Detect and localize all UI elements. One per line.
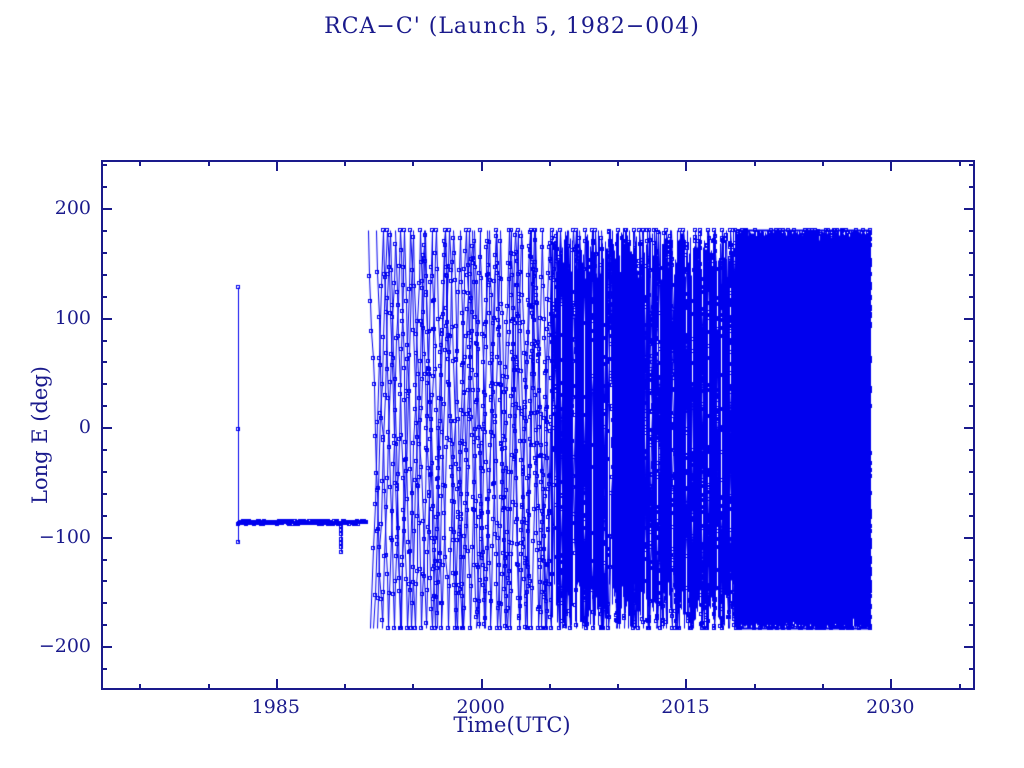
y-axis-tick <box>969 164 975 166</box>
y-axis-tick <box>101 668 107 670</box>
y-axis-tick <box>969 449 975 451</box>
y-axis-tick <box>101 427 112 429</box>
y-axis-tick <box>101 580 107 582</box>
y-axis-tick <box>969 296 975 298</box>
x-axis-tick <box>822 684 824 690</box>
x-axis-tick <box>754 160 756 166</box>
y-axis-tick <box>969 471 975 473</box>
x-axis-tick <box>617 160 619 166</box>
y-axis-tick <box>969 493 975 495</box>
y-tick-label: 100 <box>7 307 91 329</box>
y-axis-tick <box>101 361 107 363</box>
y-axis-tick <box>101 515 107 517</box>
y-axis-tick <box>101 559 107 561</box>
x-axis-tick <box>959 160 961 166</box>
y-tick-label: −200 <box>7 635 91 657</box>
y-axis-tick <box>969 559 975 561</box>
y-axis-tick <box>969 274 975 276</box>
y-axis-tick <box>964 208 975 210</box>
y-axis-tick <box>101 164 107 166</box>
x-axis-tick <box>822 160 824 166</box>
x-axis-tick <box>685 679 687 690</box>
data-plot-canvas <box>103 162 977 692</box>
y-axis-tick <box>964 537 975 539</box>
y-axis-tick <box>101 208 112 210</box>
x-axis-tick <box>685 160 687 171</box>
x-axis-tick <box>890 679 892 690</box>
y-axis-tick <box>101 186 107 188</box>
y-axis-tick <box>969 624 975 626</box>
y-axis-tick <box>101 230 107 232</box>
x-axis-tick <box>549 684 551 690</box>
y-axis-tick <box>969 602 975 604</box>
page-title: RCA−C' (Launch 5, 1982−004) <box>0 14 1024 39</box>
x-axis-label: Time(UTC) <box>0 713 1024 737</box>
y-axis-tick <box>101 383 107 385</box>
y-axis-tick <box>964 646 975 648</box>
y-axis-tick <box>101 537 112 539</box>
y-axis-tick <box>101 340 107 342</box>
x-axis-tick <box>549 160 551 166</box>
x-axis-tick <box>276 160 278 171</box>
y-axis-tick <box>101 646 112 648</box>
y-axis-tick <box>969 361 975 363</box>
figure-canvas: RCA−C' (Launch 5, 1982−004) 198520002015… <box>0 0 1024 768</box>
y-axis-tick <box>969 252 975 254</box>
y-axis-tick <box>101 471 107 473</box>
y-axis-tick <box>964 427 975 429</box>
y-axis-tick <box>969 230 975 232</box>
x-axis-tick <box>617 684 619 690</box>
y-axis-tick <box>101 252 107 254</box>
x-axis-tick <box>276 679 278 690</box>
y-axis-tick <box>964 318 975 320</box>
x-axis-tick <box>344 160 346 166</box>
x-axis-tick <box>139 684 141 690</box>
x-axis-tick <box>344 684 346 690</box>
y-axis-tick <box>969 405 975 407</box>
y-axis-label: Long E (deg) <box>28 335 52 535</box>
y-axis-tick <box>101 405 107 407</box>
y-axis-tick <box>969 668 975 670</box>
y-axis-tick <box>969 340 975 342</box>
y-axis-tick <box>101 493 107 495</box>
y-axis-tick <box>101 274 107 276</box>
x-axis-tick <box>890 160 892 171</box>
y-axis-tick <box>101 449 107 451</box>
y-axis-tick <box>101 296 107 298</box>
x-axis-tick <box>208 160 210 166</box>
y-axis-tick <box>101 624 107 626</box>
x-axis-tick <box>754 684 756 690</box>
x-axis-tick <box>412 684 414 690</box>
y-axis-tick <box>969 383 975 385</box>
x-axis-tick <box>481 679 483 690</box>
y-axis-tick <box>101 602 107 604</box>
y-axis-tick <box>969 580 975 582</box>
x-axis-tick <box>139 160 141 166</box>
y-axis-tick <box>101 318 112 320</box>
plot-area <box>101 160 975 690</box>
x-axis-tick <box>412 160 414 166</box>
x-axis-tick <box>959 684 961 690</box>
y-axis-tick <box>969 186 975 188</box>
y-tick-label: 200 <box>7 197 91 219</box>
x-axis-tick <box>208 684 210 690</box>
y-axis-tick <box>969 515 975 517</box>
x-axis-tick <box>481 160 483 171</box>
